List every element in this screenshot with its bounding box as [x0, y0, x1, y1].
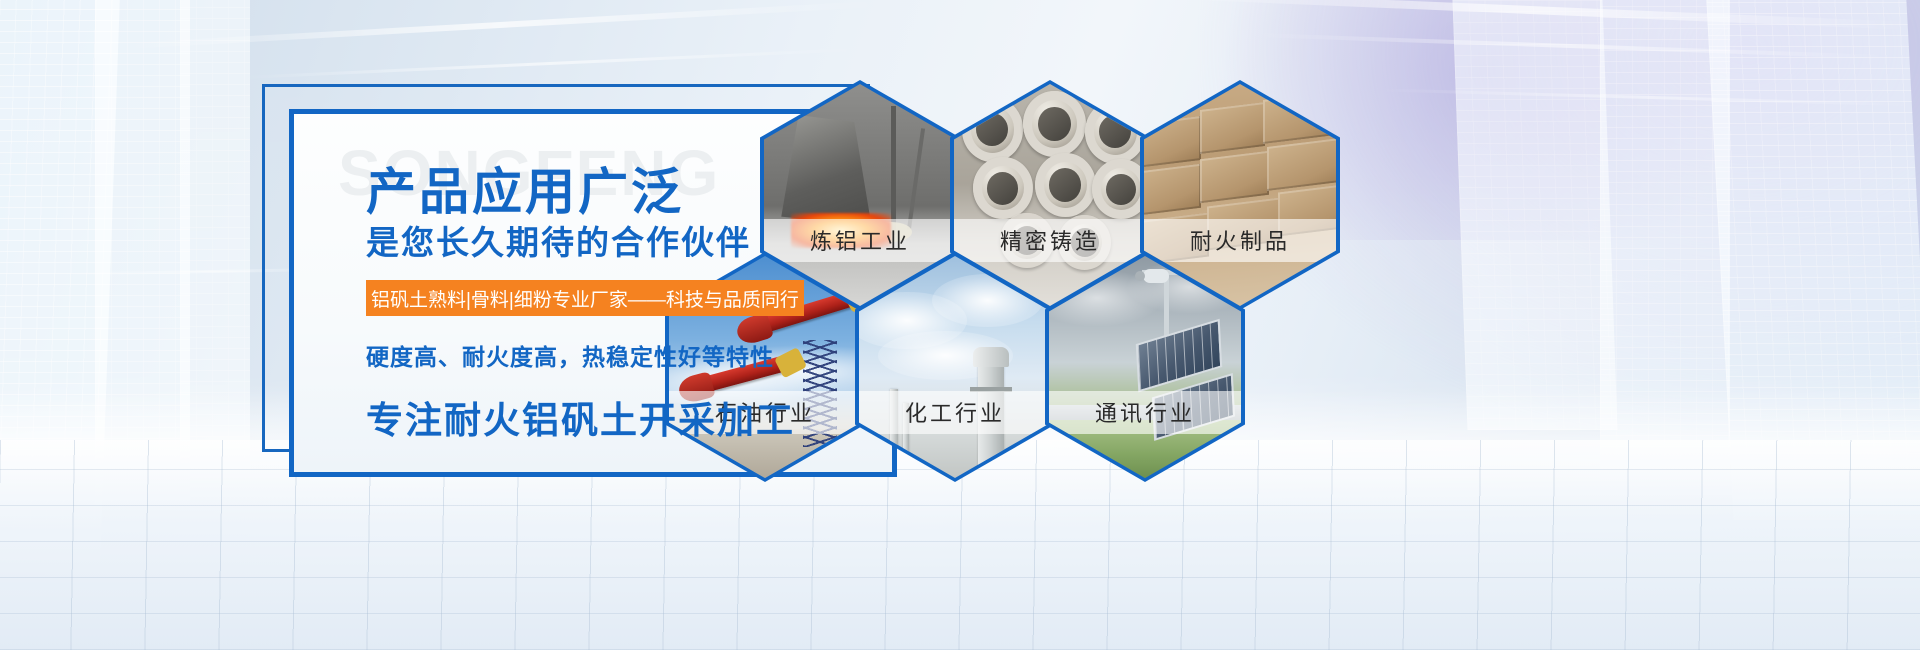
casting-ring — [962, 97, 1023, 161]
hex-tile-chemical-industry[interactable]: 化工行业 — [855, 252, 1055, 482]
solar-panel-antenna-mast-photo — [1049, 256, 1241, 478]
casting-ring — [1035, 153, 1096, 217]
hex-caption: 通讯行业 — [1049, 391, 1241, 434]
cloud — [1126, 260, 1241, 313]
light-streak — [240, 48, 859, 79]
cloud — [932, 274, 1043, 327]
casting-ring — [1092, 159, 1146, 219]
refractory-brick — [1267, 137, 1336, 191]
refractory-brick — [1200, 151, 1269, 204]
casting-ring — [973, 157, 1033, 219]
hex-photo-clip: 化工行业 — [859, 256, 1051, 478]
page-title: 产品应用广泛 — [366, 152, 684, 224]
refractory-brick — [1263, 90, 1336, 144]
hex-border: 化工行业 — [855, 252, 1055, 482]
refractory-brick — [1144, 164, 1202, 217]
casting-ring — [1085, 100, 1146, 164]
highlight-strip: 铝矾土熟料|骨料|细粉专业厂家——科技与品质同行 — [366, 280, 804, 316]
glass-tower-background — [1452, 0, 1617, 430]
hex-border: 通讯行业 — [1045, 252, 1245, 482]
furnace-pipe — [891, 106, 896, 235]
promotional-banner: SONGFENG 产品应用广泛 是您长久期待的合作伙伴 铝矾土熟料|骨料|细粉专… — [0, 0, 1920, 650]
feature-description: 硬度高、耐火度高，热稳定性好等特性 — [366, 338, 774, 372]
furnace-pipe — [907, 129, 925, 231]
hex-tile-communication-industry[interactable]: 通讯行业 — [1045, 252, 1245, 482]
refractory-brick — [1200, 102, 1265, 154]
tagline: 专注耐火铝矾土开采加工 — [366, 390, 795, 444]
hex-photo-clip: 通讯行业 — [1049, 256, 1241, 478]
hex-caption: 化工行业 — [859, 391, 1051, 434]
chemical-plant-towers-photo — [859, 256, 1051, 478]
refractory-brick — [1144, 116, 1202, 168]
casting-ring — [1023, 91, 1086, 158]
surveillance-camera — [1143, 269, 1169, 283]
highlight-strip-label: 铝矾土熟料|骨料|细粉专业厂家——科技与品质同行 — [371, 285, 799, 312]
